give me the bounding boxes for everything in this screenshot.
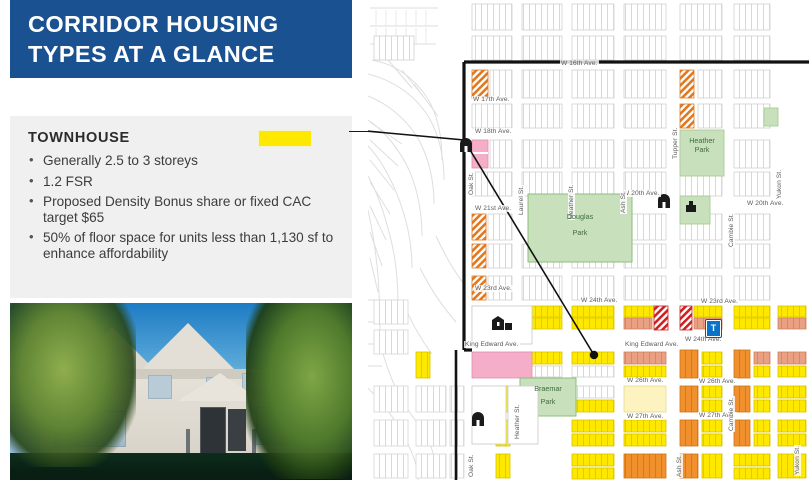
street-label-w20-right: W 20th Ave. xyxy=(746,200,785,207)
tree-right xyxy=(246,303,352,479)
park-label-heather: Heather Park xyxy=(680,136,724,154)
transit-station-icon[interactable]: T xyxy=(706,320,721,337)
legend-color-swatch xyxy=(258,130,312,147)
park-label-braemar: Braemar Park xyxy=(520,384,576,406)
street-label-tupper: Tupper St. xyxy=(672,126,679,160)
street-label-oak-lower: Oak St. xyxy=(468,453,475,478)
street-label-ash-upper: Ash St. xyxy=(620,190,627,214)
window-upper-mid xyxy=(148,375,172,399)
front-door xyxy=(200,407,226,455)
street-label-w18: W 18th Ave. xyxy=(474,128,513,135)
street-label-w23-left: W 23rd Ave. xyxy=(474,285,513,292)
street-label-heather-lower: Heather St. xyxy=(514,404,521,440)
list-item: Generally 2.5 to 3 storeys xyxy=(26,153,336,169)
title-line-1: CORRIDOR HOUSING xyxy=(28,9,334,39)
park-label-line2: Park xyxy=(520,397,576,406)
list-item: Proposed Density Bonus share or fixed CA… xyxy=(26,194,336,225)
list-item: 1.2 FSR xyxy=(26,174,336,190)
roof-gable-mid xyxy=(138,323,238,373)
park-label-line2: Park xyxy=(680,145,724,154)
street-label-w16: W 16th Ave. xyxy=(560,60,599,67)
park-label-line1: Braemar xyxy=(520,384,576,393)
street-label-yukon-lower: Yukon St. xyxy=(794,445,801,476)
slide-root: CORRIDOR HOUSING TYPES AT A GLANCE TOWNH… xyxy=(0,0,809,480)
tree-left xyxy=(10,303,136,467)
park-label-douglas: Douglas Park xyxy=(528,212,632,237)
street-label-king-edward-right: King Edward Ave. xyxy=(624,341,680,348)
housing-type-card: TOWNHOUSE Generally 2.5 to 3 storeys 1.2… xyxy=(10,116,352,298)
street-label-w24-left: W 24th Ave. xyxy=(580,297,619,304)
left-info-panel: CORRIDOR HOUSING TYPES AT A GLANCE TOWNH… xyxy=(0,0,360,480)
secondary-door xyxy=(228,409,246,451)
street-label-w21: W 21st Ave. xyxy=(474,205,512,212)
park-label-line1: Heather xyxy=(680,136,724,145)
title-line-2: TYPES AT A GLANCE xyxy=(28,39,334,69)
street-label-w20-left: W 20th Ave. xyxy=(622,190,661,197)
street-label-king-edward-left: King Edward Ave. xyxy=(464,341,520,348)
street-label-oak-upper: Oak St. xyxy=(468,171,475,196)
street-label-w26-left: W 26th Ave. xyxy=(626,377,665,384)
park-label-line2: Park xyxy=(528,228,632,237)
street-label-yukon-upper: Yukon St. xyxy=(776,169,783,200)
street-label-cambie-lower: Cambie St. xyxy=(728,396,735,432)
street-label-laurel: Laurel St. xyxy=(518,185,525,216)
zoning-map[interactable]: W 16th Ave. W 17th Ave. W 18th Ave. W 20… xyxy=(368,0,809,480)
street-label-w23-right: W 23rd Ave. xyxy=(700,298,739,305)
list-item: 50% of floor space for units less than 1… xyxy=(26,230,336,261)
card-bullet-list: Generally 2.5 to 3 storeys 1.2 FSR Propo… xyxy=(26,153,336,262)
street-label-w24-right: W 24th Ave. xyxy=(684,336,723,343)
title-banner: CORRIDOR HOUSING TYPES AT A GLANCE xyxy=(10,0,352,78)
townhouse-photograph xyxy=(10,303,352,480)
street-label-w26-right: W 26th Ave. xyxy=(698,378,737,385)
street-label-ash-lower: Ash St. xyxy=(676,454,683,478)
park-label-line1: Douglas xyxy=(528,212,632,221)
street-label-w17: W 17th Ave. xyxy=(472,96,511,103)
street-label-w27-right: W 27th Ave. xyxy=(626,413,665,420)
map-vector-layer xyxy=(368,0,809,480)
street-label-cambie-upper: Cambie St. xyxy=(728,212,735,248)
